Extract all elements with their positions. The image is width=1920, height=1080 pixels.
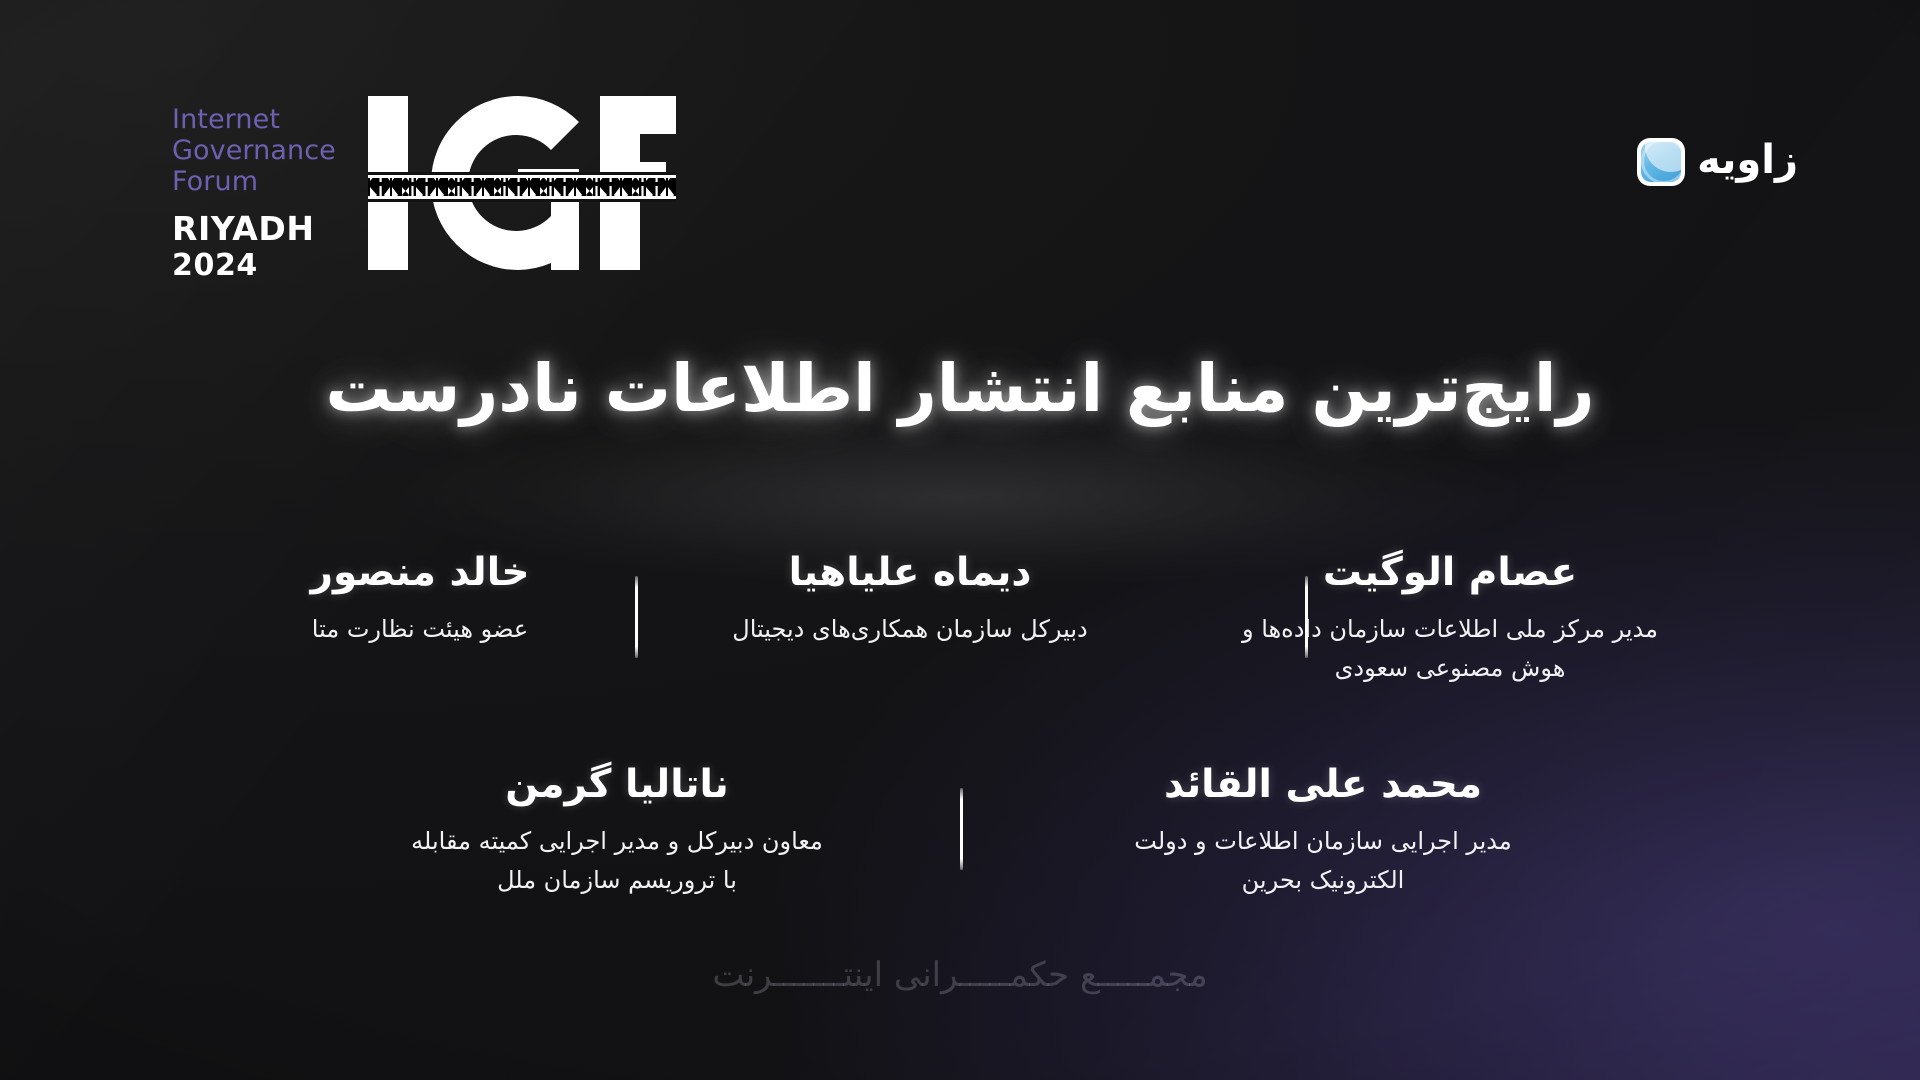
- zawiya-icon-glyph: [1641, 142, 1681, 182]
- speaker-card: خالد منصور عضو هیئت نظارت متا: [210, 550, 630, 649]
- bottom-watermark: مجمـــــع حکمـــــرانی اینتـــــــرنت: [0, 955, 1920, 995]
- igf-logo-text-block: Internet Governance Forum RIYADH 2024: [172, 96, 336, 285]
- igf-subtitle-line-2: Governance: [172, 135, 336, 166]
- speaker-separator-icon: [1305, 576, 1308, 658]
- igf-edition-year: 2024: [172, 247, 336, 285]
- speaker-title: دبیرکل سازمان همکاری‌های دیجیتال: [656, 610, 1164, 649]
- speaker-card: عصام الوگیت مدیر مرکز ملی اطلاعات سازمان…: [1190, 550, 1710, 688]
- igf-subtitle: Internet Governance Forum: [172, 104, 336, 197]
- speaker-row-2: محمد علی القائد مدیر اجرایی سازمان اطلاع…: [0, 688, 1920, 900]
- speaker-name: ناتالیا گرمن: [403, 762, 831, 808]
- speaker-row-1: عصام الوگیت مدیر مرکز ملی اطلاعات سازمان…: [0, 520, 1920, 688]
- speaker-name: خالد منصور: [236, 550, 604, 596]
- zawiya-app-icon: [1637, 138, 1685, 186]
- speaker-title: مدیر اجرایی سازمان اطلاعات و دولت الکترو…: [1129, 822, 1517, 900]
- speaker-separator-icon: [960, 788, 963, 870]
- speaker-title: مدیر مرکز ملی اطلاعات سازمان داده‌ها و ه…: [1216, 610, 1684, 688]
- igf-subtitle-line-3: Forum: [172, 166, 336, 197]
- speaker-card: محمد علی القائد مدیر اجرایی سازمان اطلاع…: [1103, 762, 1543, 900]
- speaker-title: معاون دبیرکل و مدیر اجرایی کمیته مقابله …: [403, 822, 831, 900]
- speaker-name: دیماه علیاهیا: [656, 550, 1164, 596]
- speaker-title: عضو هیئت نظارت متا: [236, 610, 604, 649]
- channel-logo: زاویه: [1637, 138, 1798, 186]
- speaker-name: عصام الوگیت: [1216, 550, 1684, 596]
- speaker-card: ناتالیا گرمن معاون دبیرکل و مدیر اجرایی …: [377, 762, 857, 900]
- broadcast-slate: Internet Governance Forum RIYADH 2024 زا…: [0, 0, 1920, 1080]
- headline-title: رایج‌ترین منابع انتشار اطلاعات نادرست: [0, 348, 1920, 431]
- igf-host-city: RIYADH: [172, 211, 336, 247]
- channel-name-label: زاویه: [1697, 140, 1798, 184]
- speaker-card: دیماه علیاهیا دبیرکل سازمان همکاری‌های د…: [630, 550, 1190, 649]
- speaker-separator-icon: [635, 576, 638, 658]
- speaker-grid: عصام الوگیت مدیر مرکز ملی اطلاعات سازمان…: [0, 520, 1920, 900]
- igf-subtitle-line-1: Internet: [172, 104, 336, 135]
- igf-wordmark-icon: [368, 96, 676, 270]
- igf-logo-lockup: Internet Governance Forum RIYADH 2024: [172, 96, 676, 285]
- speaker-name: محمد علی القائد: [1129, 762, 1517, 808]
